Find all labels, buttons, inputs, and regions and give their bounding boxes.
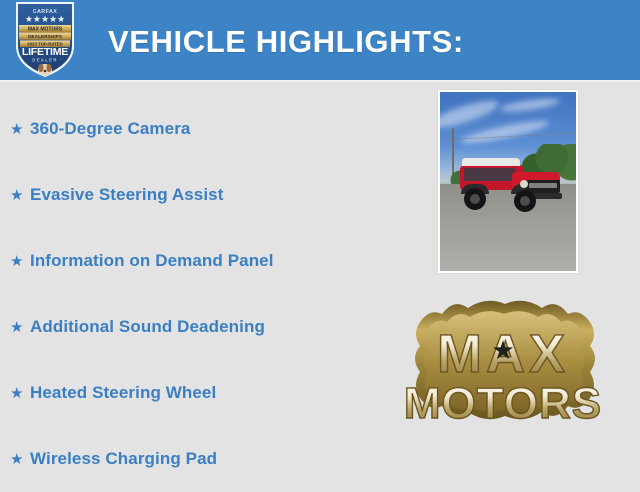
header-band: CARFAX ★★★★★ MAX MOTORS DEALERSHIPS 2023… <box>0 0 640 82</box>
cloud-decoration <box>440 96 501 133</box>
carfax-line1: MAX MOTORS <box>28 27 63 33</box>
list-item: ★ Wireless Charging Pad <box>0 426 400 492</box>
carfax-line4: LIFETIME <box>22 46 68 58</box>
list-item: ★ Additional Sound Deadening <box>0 294 400 360</box>
page-title: VEHICLE HIGHLIGHTS: <box>108 24 464 60</box>
star-bullet-icon: ★ <box>10 122 30 137</box>
vehicle-grille-lettering <box>529 183 557 188</box>
vehicle-rim <box>520 196 530 206</box>
highlight-label: 360-Degree Camera <box>30 119 190 139</box>
vehicle-headlight <box>520 180 528 188</box>
logo-line2: MOTORS <box>404 379 602 428</box>
max-motors-logo: MAX ★ MOTORS <box>400 300 610 445</box>
vehicle-windows <box>464 168 516 181</box>
vehicle-photo-frame <box>438 90 578 273</box>
cloud-decoration <box>460 117 551 147</box>
red-bronco-vehicle <box>456 158 564 216</box>
star-bullet-icon: ★ <box>10 452 30 467</box>
star-bullet-icon: ★ <box>10 386 30 401</box>
highlight-label: Additional Sound Deadening <box>30 317 265 337</box>
carfax-line2: DEALERSHIPS <box>28 34 63 40</box>
carfax-stars: ★★★★★ <box>25 15 65 25</box>
star-bullet-icon: ★ <box>10 188 30 203</box>
list-item: ★ Information on Demand Panel <box>0 228 400 294</box>
highlight-label: Heated Steering Wheel <box>30 383 216 403</box>
list-item: ★ 360-Degree Camera <box>0 96 400 162</box>
vehicle-photo <box>440 92 576 271</box>
carfax-line5: DEALER <box>32 58 58 63</box>
logo-star-icon: ★ <box>491 336 514 366</box>
vehicle-rim <box>470 194 480 204</box>
list-item: ★ Evasive Steering Assist <box>0 162 400 228</box>
star-bullet-icon: ★ <box>10 320 30 335</box>
highlight-label: Evasive Steering Assist <box>30 185 224 205</box>
highlight-label: Information on Demand Panel <box>30 251 274 271</box>
cloud-decoration <box>500 96 561 114</box>
star-bullet-icon: ★ <box>10 254 30 269</box>
list-item: ★ Heated Steering Wheel <box>0 360 400 426</box>
slide-root: CARFAX ★★★★★ MAX MOTORS DEALERSHIPS 2023… <box>0 0 640 480</box>
highlight-label: Wireless Charging Pad <box>30 449 217 469</box>
highlights-list: ★ 360-Degree Camera ★ Evasive Steering A… <box>0 96 400 492</box>
carfax-lifetime-dealer-badge: CARFAX ★★★★★ MAX MOTORS DEALERSHIPS 2023… <box>10 0 80 80</box>
